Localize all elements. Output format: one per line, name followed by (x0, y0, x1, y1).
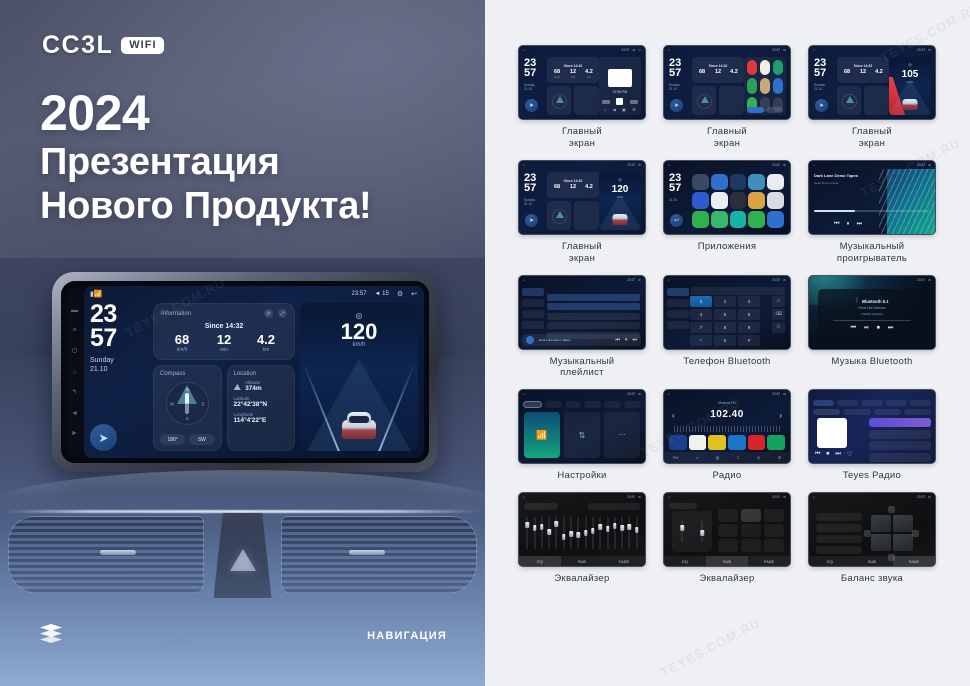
navigation-card[interactable]: ◎ 120 km/h (300, 303, 418, 451)
preset-cell[interactable] (718, 509, 738, 522)
location-card[interactable]: Location ⛰ Altitude 374m (227, 365, 296, 451)
dashboard-ledge (0, 470, 485, 514)
list-icon[interactable]: ▤ (716, 455, 720, 460)
list-item[interactable]: ⌂23:57⚙ 2357 Sunday21.10 ➤ Since 14:32 6… (808, 45, 936, 150)
eq-band[interactable] (533, 513, 536, 553)
caption-line-1: Главный (518, 126, 646, 138)
preset-cell[interactable] (764, 509, 784, 522)
sidebar-item-recents[interactable] (667, 310, 689, 318)
hero-panel: CC3L WIFI 2024 Презентация Нового Продук… (0, 0, 485, 686)
clock-widget: 23 57 Sunday 21.10 ➤ (90, 303, 148, 451)
tab-sub[interactable]: SUB (706, 556, 748, 566)
thumbnail-music-player[interactable]: ⌂23:57⚙ Dark Lane Demo Tapes Deep Down I… (808, 160, 936, 235)
bluetooth-device: Bluetooth 5.1 (862, 299, 889, 304)
stat-unit: min (565, 76, 581, 79)
clock-date: 21.10 (814, 87, 825, 91)
thumb-status-bar: ⌂23:57⚙ (519, 161, 645, 169)
list-item[interactable] (816, 513, 862, 521)
list-item[interactable] (547, 313, 640, 320)
wifi-card[interactable]: 📶 (524, 412, 560, 458)
mountain-icon: ⛰ (234, 383, 242, 392)
list-item[interactable]: ⌂23:57⚙ (663, 492, 791, 585)
player-controls[interactable]: ⏮ ⏯ ⏹ ⏭ (851, 325, 894, 332)
thumbnail-equalizer-bands[interactable]: ⌂23:57⚙ (518, 492, 646, 567)
stop-icon[interactable]: ⏹ (877, 325, 880, 332)
clock-date: 21.10 (524, 202, 535, 206)
speedometer-icon: ◎ (599, 177, 641, 182)
eq-band[interactable] (628, 513, 631, 553)
caption-line-1: Эквалайзер (518, 573, 646, 585)
tab-countries[interactable] (861, 400, 882, 406)
favorite-icon[interactable]: ♡ (847, 451, 852, 458)
gear-icon: ⚙ (638, 392, 641, 396)
balance-presets[interactable] (816, 513, 862, 557)
equalizer-toolbar[interactable]: EQ SUB FADE (809, 556, 935, 566)
status-time: 23:57 (917, 278, 925, 282)
seat-front-left[interactable] (871, 515, 891, 532)
thumb-clock: 2357 (524, 58, 536, 79)
list-item[interactable]: ⌂23:57⚙ 2357 21.10 ↩ (663, 160, 791, 265)
app-shortcuts-panel (744, 57, 786, 115)
track-title: Dark Lane Demo Tapes (814, 173, 882, 178)
thumbnail-teyes-radio[interactable]: ⏮ ⏹ ⏭ ♡ (808, 389, 936, 464)
gear-icon: ⚙ (783, 278, 786, 282)
information-card-actions: ⟳ ⤢ (264, 309, 287, 318)
altitude-row: ⛰ Altitude 374m (234, 380, 289, 392)
app-icon (748, 192, 765, 209)
preset-cell[interactable] (741, 524, 761, 537)
thumbnail-settings[interactable]: ⌂23:57⚙ 📶 ⇅ ⋯ (518, 389, 646, 464)
wifi-icon: 📶 (94, 290, 103, 298)
player-controls[interactable]: ⏮ ⏹ ⏭ ♡ (815, 451, 852, 458)
status-time: 23:57 (772, 163, 780, 167)
caption-line-1: Телефон Bluetooth (663, 356, 791, 368)
dial-key[interactable]: 5 (714, 309, 736, 320)
compass-readout: 180° SW (160, 434, 215, 445)
dial-key[interactable]: 9 (738, 322, 760, 333)
clock-day: Sunday (90, 356, 148, 365)
search-icon[interactable]: ⌕ (696, 455, 698, 460)
list-item[interactable]: ⏮ ⏹ ⏭ ♡ Teyes Радио (808, 389, 936, 482)
list-item[interactable] (869, 441, 931, 450)
list-item[interactable]: ⌂23:57⚙ (808, 492, 936, 585)
eq-band[interactable] (548, 513, 551, 553)
equalizer-toolbar[interactable]: EQ SUB FADE (519, 556, 645, 566)
head-unit-screen[interactable]: ▮ 📶 23:57 ◄ 15 ⚙ ↩ (84, 286, 424, 458)
next-icon[interactable]: ⏭ (632, 337, 637, 343)
head-unit-side-keys[interactable]: ▬ ≡ ⏻ ⌂ ↰ ◄ ► (65, 286, 84, 458)
station-list[interactable] (869, 418, 931, 464)
equalizer-toolbar[interactable]: EQ SUB FADE (664, 556, 790, 566)
more-card[interactable]: ⋯ (604, 412, 640, 458)
tab-stations[interactable] (813, 400, 834, 406)
next-icon[interactable]: ⏭ (888, 325, 893, 332)
tab-eq[interactable]: EQ (664, 556, 706, 566)
tuning-scale[interactable] (674, 426, 780, 432)
thumb-status-bar: ⌂23:57⚙ (809, 276, 935, 284)
balance-left-button[interactable] (864, 530, 871, 537)
eq-icon[interactable]: ≡ (737, 455, 739, 460)
thumbnail-bluetooth-music[interactable]: ⌂23:57⚙ ᛒ Bluetooth 5.1 Feels Like Summe… (808, 275, 936, 350)
refresh-icon[interactable]: ⟳ (264, 309, 273, 318)
station-presets[interactable] (669, 435, 785, 450)
progress-bar[interactable] (833, 320, 911, 321)
eq-band[interactable] (526, 513, 529, 553)
next-station-icon[interactable]: › (779, 411, 782, 420)
next-icon[interactable]: ⏭ (835, 451, 840, 458)
balance-pad[interactable] (871, 515, 913, 551)
back-key-icon[interactable]: ↰ (72, 389, 78, 396)
dial-key[interactable]: 4 (690, 309, 712, 320)
volume-down-key-icon[interactable]: ◄ (71, 410, 78, 417)
clock-minutes: 57 (814, 68, 826, 78)
caption-line-1: Музыкальный (518, 356, 646, 368)
player-controls[interactable]: ⏮ ⏸ ⏭ (809, 221, 887, 228)
wifi-icon: 📶 (536, 430, 547, 441)
prev-icon[interactable]: ⏮ (834, 221, 839, 228)
location-card (574, 201, 599, 230)
tab-eq[interactable]: EQ (519, 556, 561, 566)
stat-value: 68 (839, 70, 855, 76)
tab-fade[interactable]: FADE (748, 556, 790, 566)
eq-band[interactable] (577, 513, 580, 553)
mini-player[interactable]: Dark Lane Demo Tapes ⏮ ⏸ ⏭ (522, 334, 641, 346)
sidebar-item-folders[interactable] (522, 321, 544, 329)
product-logo: CC3L WIFI (42, 33, 164, 58)
dial-key[interactable]: 2 (714, 296, 736, 307)
dialpad[interactable]: 1 2 3 4 5 6 7 8 9 * 0 # (690, 296, 760, 346)
dial-key[interactable]: 8 (714, 322, 736, 333)
sidebar-item-tracks[interactable] (522, 288, 544, 296)
menu-key-icon[interactable]: ▬ (71, 307, 78, 314)
seat-rear-right[interactable] (893, 534, 913, 551)
tab-sound[interactable] (545, 401, 562, 408)
compass-card-title: Compass (160, 371, 215, 377)
caption-line-1: Teyes Радио (808, 470, 936, 482)
prev-icon[interactable]: ⏮ (851, 325, 856, 332)
tab-general[interactable] (584, 401, 601, 408)
preset-cell[interactable] (764, 524, 784, 537)
sidebar-item-artists[interactable] (522, 299, 544, 307)
filter-chip[interactable] (874, 409, 901, 415)
list-item[interactable]: ⌂23:57⚙ 2357 Sunday21.10 ➤ Since 14:32 6… (663, 45, 791, 150)
gear-icon: ⚙ (638, 495, 641, 499)
tab-system[interactable] (624, 401, 641, 408)
list-item[interactable]: ⌂23:57⚙ Moscow FM ‹ 102.40 › (663, 389, 791, 482)
settings-cards[interactable]: 📶 ⇅ ⋯ (524, 412, 640, 458)
more-icon: ⋯ (619, 431, 626, 439)
settings-tabs[interactable] (523, 401, 641, 408)
expand-icon[interactable]: ⤢ (278, 309, 287, 318)
stat-value: 4.2 (726, 70, 742, 76)
thumbnail-apps[interactable]: ⌂23:57⚙ 2357 21.10 ↩ (663, 160, 791, 235)
volume-up-key-icon[interactable]: ► (71, 430, 78, 437)
tab-fade[interactable]: FADE (603, 556, 645, 566)
list-item[interactable] (547, 322, 640, 329)
thumbnail-equalizer-presets[interactable]: ⌂23:57⚙ (663, 492, 791, 567)
album-art (817, 418, 847, 448)
compass-needle (185, 393, 189, 414)
list-item[interactable] (547, 303, 640, 310)
list-item[interactable]: ⌂23:57⚙ (518, 275, 646, 380)
list-item[interactable] (816, 524, 862, 532)
list-item[interactable]: ⌂23:57⚙ ᛒ Bluetooth 5.1 Feels Like Summe… (808, 275, 936, 380)
list-item[interactable]: ⌂23:57⚙ 2357 Sunday21.10 ➤ Since 14:32 6… (518, 160, 646, 265)
power-key-icon[interactable]: ⏻ (72, 348, 78, 355)
list-item[interactable] (869, 418, 931, 427)
list-item-caption: Музыкальный проигрыватель (808, 241, 936, 265)
call-icon[interactable]: ✆ (772, 322, 785, 333)
preset-grid[interactable] (718, 509, 784, 552)
filter-chip[interactable] (843, 409, 870, 415)
band-button[interactable]: FM (673, 455, 679, 460)
thumbnail-bluetooth-phone[interactable]: ⌂23:57⚙ 1 2 3 4 5 6 (663, 275, 791, 350)
list-item[interactable]: ⌂23:57⚙↩ 2357 Sunday21.10 ➤ Since 14:32 … (518, 45, 646, 150)
headline-line-1: Презентация (40, 140, 460, 184)
eq-band[interactable] (584, 513, 587, 553)
dashboard-trim-line (4, 510, 481, 513)
app-icon (773, 78, 783, 93)
tab-sub[interactable]: SUB (851, 556, 893, 566)
tab-favorites[interactable] (886, 400, 907, 406)
list-item-caption: Эквалайзер (518, 573, 646, 585)
since-label: Since 14:32 (552, 179, 594, 183)
stat-value: 12 (565, 185, 581, 191)
status-time: 23:57 (917, 495, 925, 499)
sidebar-item-favorites[interactable] (667, 321, 689, 329)
teyes-radio-tabs[interactable] (813, 400, 931, 406)
prev-icon[interactable]: ⏮ (815, 451, 820, 458)
rds-icon[interactable]: ◎ (757, 455, 761, 460)
volume-icon: ◄ (375, 291, 381, 297)
eq-band[interactable] (614, 513, 617, 553)
tab-genres[interactable] (837, 400, 858, 406)
seat-front-right[interactable] (893, 515, 913, 532)
sidebar-item-albums[interactable] (522, 310, 544, 318)
seat-rear-left[interactable] (871, 534, 891, 551)
phone-sidebar[interactable] (667, 288, 689, 345)
tab-display[interactable] (565, 401, 582, 408)
next-icon[interactable]: ⏭ (857, 221, 862, 228)
prev-icon[interactable]: ⏮ (615, 337, 620, 343)
information-card[interactable]: Information ⟳ ⤢ Since 14:32 (153, 303, 295, 360)
status-right: 23:57 ◄ 15 ⚙ ↩ (352, 290, 417, 298)
filter-chip[interactable] (904, 409, 931, 415)
dial-key[interactable]: 0 (714, 335, 736, 346)
list-item[interactable] (869, 430, 931, 439)
eq-band[interactable] (570, 513, 573, 553)
status-time: 23:57 (772, 48, 780, 52)
list-item-caption: Телефон Bluetooth (663, 356, 791, 368)
thumbnail-radio[interactable]: ⌂23:57⚙ Moscow FM ‹ 102.40 › (663, 389, 791, 464)
preset-selector[interactable] (669, 503, 697, 509)
head-unit-frame: ▬ ≡ ⏻ ⌂ ↰ ◄ ► ▮ 📶 (61, 281, 429, 463)
settings-icon[interactable]: ⚙ (778, 455, 782, 460)
filter-chip[interactable] (813, 409, 840, 415)
bluetooth-icon: ᛒ (855, 298, 859, 304)
dial-key[interactable]: 7 (690, 322, 712, 333)
star-icon[interactable]: ☆ (772, 296, 785, 307)
car-3d-model (613, 214, 628, 225)
list-item[interactable] (869, 453, 931, 462)
thumb-clock: 2357 (669, 173, 681, 194)
stop-icon[interactable]: ⏹ (826, 451, 829, 458)
preset-button[interactable] (689, 435, 707, 450)
information-card-header: Information ⟳ ⤢ (161, 309, 287, 318)
sidebar-item-contacts[interactable] (667, 299, 689, 307)
screens-gallery-panel: ⌂23:57⚙↩ 2357 Sunday21.10 ➤ Since 14:32 … (485, 0, 970, 686)
equalizer-bands[interactable] (524, 513, 640, 553)
list-item[interactable]: ⌂23:57⚙ (518, 492, 646, 585)
list-item[interactable]: ⌂23:57⚙ 1 2 3 4 5 6 (663, 275, 791, 380)
status-time: 23:57 (352, 291, 367, 297)
status-time: 23:57 (627, 392, 635, 396)
clock-minutes: 57 (524, 68, 536, 78)
preset-button[interactable] (767, 435, 785, 450)
app-icon (692, 192, 709, 209)
app-icon (747, 78, 757, 93)
pause-icon[interactable]: ⏸ (847, 221, 850, 228)
altitude-block: Altitude 374m (245, 380, 262, 392)
tab-wifi[interactable] (523, 401, 542, 408)
dial-key[interactable]: 3 (738, 296, 760, 307)
dial-actions[interactable]: ☆ ⌫ ✆ (772, 296, 785, 335)
preset-cell[interactable] (741, 509, 761, 522)
sidebar-item-dialpad[interactable] (667, 288, 689, 296)
dial-key[interactable]: # (738, 335, 760, 346)
gear-icon[interactable]: ⚙ (397, 290, 403, 298)
tab-network[interactable] (604, 401, 621, 408)
thumbnail-music-playlist[interactable]: ⌂23:57⚙ (518, 275, 646, 350)
home-icon: ⌂ (668, 495, 670, 499)
play-pause-icon[interactable]: ⏯ (864, 325, 869, 332)
thumb-status-bar: ⌂23:57⚙ (809, 161, 935, 169)
tab-fade[interactable]: FADE (893, 556, 935, 566)
list-item[interactable]: ⌂23:57⚙ 📶 ⇅ ⋯ (518, 389, 646, 482)
dial-key[interactable]: * (690, 335, 712, 346)
caption-line-2: экран (663, 138, 791, 150)
preset-button[interactable] (669, 435, 687, 450)
hotspot-card[interactable]: ⇅ (564, 412, 600, 458)
list-item[interactable] (816, 535, 862, 543)
navigation-icon[interactable]: ➤ (90, 424, 117, 451)
list-item-caption: Главный экран (518, 126, 646, 150)
app-icon (767, 211, 784, 228)
list-item-caption: Радио (663, 470, 791, 482)
preset-cell[interactable] (764, 539, 784, 552)
thumb-clock: 2357 (669, 58, 681, 79)
app-icon (748, 174, 765, 191)
stop-icon (616, 98, 623, 105)
caption-line-2: экран (808, 138, 936, 150)
navigation-icon: ➤ (525, 214, 538, 227)
headline-year: 2024 (40, 86, 460, 140)
eq-band[interactable] (621, 513, 624, 553)
location-card (574, 86, 599, 115)
dial-key[interactable]: 6 (738, 309, 760, 320)
track-artist: Deep Down Inside (814, 181, 882, 185)
tab-sub[interactable]: SUB (561, 556, 603, 566)
teyes-radio-filters[interactable] (813, 409, 931, 415)
home-key-icon[interactable]: ⌂ (72, 369, 76, 376)
eq-band[interactable] (541, 513, 544, 553)
back-icon[interactable]: ↩ (411, 290, 417, 298)
list-item[interactable] (816, 546, 862, 554)
caption-line-1: Главный (663, 126, 791, 138)
backspace-icon[interactable]: ⌫ (772, 309, 785, 320)
home-icon: ⌂ (523, 48, 525, 52)
thumbnail-home-nav-red[interactable]: ⌂23:57⚙ 2357 Sunday21.10 ➤ Since 14:32 6… (808, 45, 936, 120)
balance-right-button[interactable] (912, 530, 919, 537)
bluetooth-player-card: ᛒ Bluetooth 5.1 Feels Like Summer Childi… (818, 289, 926, 342)
thumb-status-bar: ⌂23:57⚙ (664, 390, 790, 398)
thumbnail-home-media[interactable]: ⌂23:57⚙↩ 2357 Sunday21.10 ➤ Since 14:32 … (518, 45, 646, 120)
sub-sliders[interactable] (672, 511, 712, 552)
eq-band[interactable] (555, 513, 558, 553)
caption-line-1: Приложения (663, 241, 791, 253)
radio-toolbar[interactable]: FM ⌕ ▤ ≡ ◎ ⚙ (664, 452, 790, 463)
eq-band[interactable] (592, 513, 595, 553)
eq-band[interactable] (606, 513, 609, 553)
next-icon (630, 100, 638, 104)
app-icon (760, 60, 770, 75)
layers-icon (40, 624, 62, 644)
preset-cell[interactable] (718, 539, 738, 552)
preset-cell[interactable] (741, 539, 761, 552)
progress-bar[interactable] (814, 210, 929, 212)
app-grid (690, 172, 786, 230)
preset-button[interactable] (728, 435, 746, 450)
thumbnail-home-nav[interactable]: ⌂23:57⚙ 2357 Sunday21.10 ➤ Since 14:32 6… (518, 160, 646, 235)
eq-band[interactable] (635, 513, 638, 553)
pause-icon[interactable]: ⏸ (625, 337, 628, 343)
eq-band[interactable] (599, 513, 602, 553)
thumbnail-sound-balance[interactable]: ⌂23:57⚙ (808, 492, 936, 567)
status-time: 23:57 (772, 495, 780, 499)
thumb-clock-sub: Sunday21.10 (814, 83, 825, 92)
gear-icon: ⚙ (928, 48, 931, 52)
preset-selector[interactable] (524, 503, 558, 510)
preset-cell[interactable] (718, 524, 738, 537)
compass-abbr: SW (189, 434, 214, 445)
app-icon (767, 174, 784, 191)
eq-band[interactable] (562, 513, 565, 553)
trip-stats: 68 12 4.2 (549, 185, 597, 191)
tab-eq[interactable]: EQ (809, 556, 851, 566)
eq-mode-row[interactable] (588, 503, 640, 510)
gear-icon: ⚙ (783, 48, 786, 52)
since-label: Since 14:32 (161, 323, 287, 330)
dial-key[interactable]: 1 (690, 296, 712, 307)
stat-value: 12 (710, 70, 726, 76)
thumbnail-home-apps[interactable]: ⌂23:57⚙ 2357 Sunday21.10 ➤ Since 14:32 6… (663, 45, 791, 120)
list-item-caption: Настройки (518, 470, 646, 482)
status-time: 23:57 (772, 392, 780, 396)
preset-button[interactable] (748, 435, 766, 450)
compass-card[interactable]: Compass N S W E (153, 365, 222, 451)
track-artist: Childish Gambino (861, 312, 883, 316)
app-icon (773, 60, 783, 75)
album-art (608, 69, 632, 87)
tab-history[interactable] (910, 400, 931, 406)
list-item[interactable]: ⌂23:57⚙ Dark Lane Demo Tapes Deep Down I… (808, 160, 936, 265)
dial-display (691, 287, 785, 295)
eq-key-icon[interactable]: ≡ (72, 327, 76, 334)
list-item[interactable] (547, 294, 640, 301)
balance-up-button[interactable] (888, 506, 895, 513)
gear-icon: ⚙ (928, 163, 931, 167)
preset-button[interactable] (708, 435, 726, 450)
